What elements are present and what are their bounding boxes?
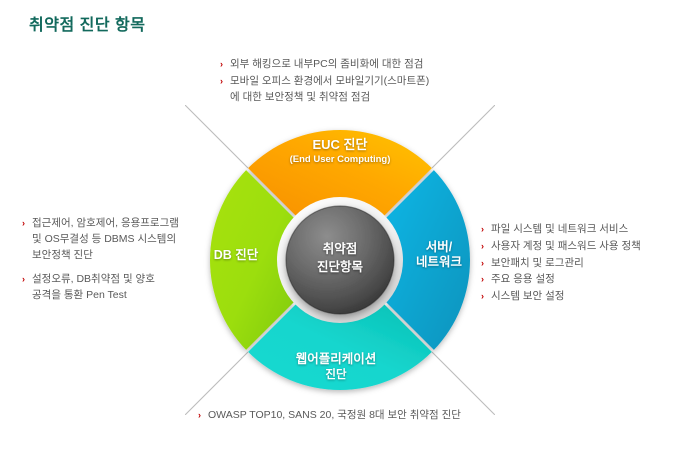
bullet-icon: › (481, 289, 484, 304)
note-server-network: › 파일 시스템 및 네트워크 서비스 › 사용자 계정 및 패스워드 사용 정… (481, 222, 671, 306)
bullet-icon: › (22, 272, 25, 287)
page-title: 취약점 진단 항목 (29, 11, 145, 35)
list-item-text: 파일 시스템 및 네트워크 서비스 (491, 223, 628, 235)
list-item-text: 주요 응용 설정 (491, 273, 555, 285)
list-item: › 모바일 오피스 환경에서 모바일기기(스마트폰) 에 대한 보안정책 및 취… (220, 74, 490, 106)
list-item-text: OWASP TOP10, SANS 20, 국정원 8대 보안 취약점 진단 (208, 409, 461, 421)
bullet-icon: › (481, 256, 484, 271)
list-item-text: 모바일 오피스 환경에서 모바일기기(스마트폰) (230, 75, 429, 87)
bullet-icon: › (198, 408, 201, 423)
list-item: › 접근제어, 암호제어, 응용프로그램 및 OS무결성 등 DBMS 시스템의… (22, 216, 200, 263)
vulnerability-donut-diagram (185, 105, 495, 415)
bullet-icon: › (481, 222, 484, 237)
bullet-icon: › (220, 57, 223, 72)
list-item-text-cont: 공격을 통환 Pen Test (32, 288, 200, 304)
note-euc: › 외부 해킹으로 내부PC의 좀비화에 대한 점검 › 모바일 오피스 환경에… (220, 57, 490, 106)
slide-canvas: 취약점 진단 항목 (0, 0, 680, 450)
list-item: › 주요 응용 설정 (481, 272, 671, 288)
bullet-icon: › (481, 239, 484, 254)
list-item-text: 설정오류, DB취약점 및 양호 (32, 273, 155, 285)
note-web-application: › OWASP TOP10, SANS 20, 국정원 8대 보안 취약점 진단 (198, 408, 528, 425)
list-item-text: 사용자 계정 및 패스워드 사용 정책 (491, 240, 641, 252)
list-item-text: 보안패치 및 로그관리 (491, 257, 584, 269)
list-item: › 파일 시스템 및 네트워크 서비스 (481, 222, 671, 238)
bullet-icon: › (22, 216, 25, 231)
list-item: › 사용자 계정 및 패스워드 사용 정책 (481, 239, 671, 255)
list-item-text: 외부 해킹으로 내부PC의 좀비화에 대한 점검 (230, 58, 423, 70)
list-item-text-cont: 및 OS무결성 등 DBMS 시스템의 (32, 232, 200, 248)
list-item-text-cont2: 보안정책 진단 (32, 248, 200, 264)
list-item: › 시스템 보안 설정 (481, 289, 671, 305)
bullet-icon: › (481, 272, 484, 287)
note-db: › 접근제어, 암호제어, 응용프로그램 및 OS무결성 등 DBMS 시스템의… (22, 216, 200, 305)
list-item: › 외부 해킹으로 내부PC의 좀비화에 대한 점검 (220, 57, 490, 73)
list-item-text: 접근제어, 암호제어, 응용프로그램 (32, 217, 179, 229)
bullet-icon: › (220, 74, 223, 89)
list-item: › 보안패치 및 로그관리 (481, 256, 671, 272)
list-item-text: 시스템 보안 설정 (491, 290, 564, 302)
list-item: › 설정오류, DB취약점 및 양호 공격을 통환 Pen Test (22, 272, 200, 304)
list-item-text-cont: 에 대한 보안정책 및 취약점 점검 (230, 90, 490, 106)
list-item: › OWASP TOP10, SANS 20, 국정원 8대 보안 취약점 진단 (198, 408, 528, 424)
